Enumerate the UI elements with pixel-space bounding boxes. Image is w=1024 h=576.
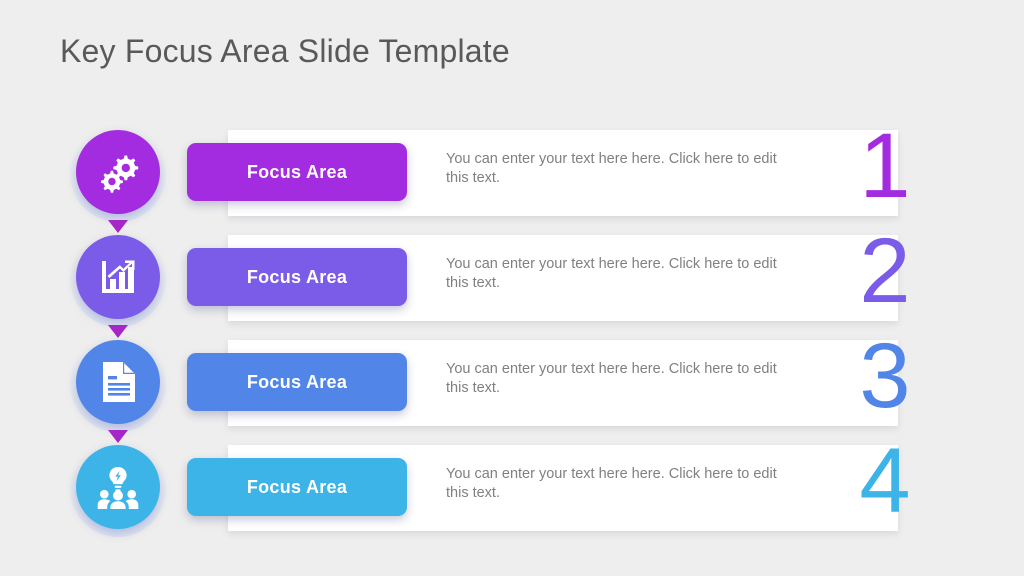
row-number: 3	[845, 316, 925, 436]
focus-area-pill[interactable]: Focus Area	[187, 143, 407, 201]
row-number: 2	[845, 211, 925, 331]
focus-area-row: Focus Area You can enter your text here …	[0, 338, 1024, 434]
focus-area-pill[interactable]: Focus Area	[187, 248, 407, 306]
row-number: 1	[845, 106, 925, 226]
icon-circle-4[interactable]	[76, 445, 160, 529]
bar-chart-growth-icon	[96, 255, 140, 299]
focus-area-pill-label: Focus Area	[247, 162, 347, 183]
focus-area-pill-label: Focus Area	[247, 372, 347, 393]
icon-badge[interactable]	[76, 445, 160, 529]
row-number: 4	[845, 421, 925, 541]
focus-area-row: Focus Area You can enter your text here …	[0, 443, 1024, 539]
focus-area-row: Focus Area You can enter your text here …	[0, 233, 1024, 329]
focus-area-pill[interactable]: Focus Area	[187, 458, 407, 516]
focus-area-row: Focus Area You can enter your text here …	[0, 128, 1024, 224]
icon-circle-2[interactable]	[76, 235, 160, 319]
focus-area-pill-label: Focus Area	[247, 267, 347, 288]
row-body-text: You can enter your text here here. Click…	[446, 360, 796, 398]
document-icon	[97, 359, 139, 405]
focus-area-pill[interactable]: Focus Area	[187, 353, 407, 411]
row-body-text: You can enter your text here here. Click…	[446, 465, 796, 503]
icon-badge[interactable]	[76, 130, 160, 214]
focus-area-rows: Focus Area You can enter your text here …	[0, 0, 1024, 576]
icon-circle-3[interactable]	[76, 340, 160, 424]
icon-circle-1[interactable]	[76, 130, 160, 214]
team-idea-icon	[94, 465, 142, 509]
icon-badge[interactable]	[76, 235, 160, 319]
gears-icon	[95, 149, 141, 195]
focus-area-pill-label: Focus Area	[247, 477, 347, 498]
row-body-text: You can enter your text here here. Click…	[446, 150, 796, 188]
icon-badge[interactable]	[76, 340, 160, 424]
row-body-text: You can enter your text here here. Click…	[446, 255, 796, 293]
